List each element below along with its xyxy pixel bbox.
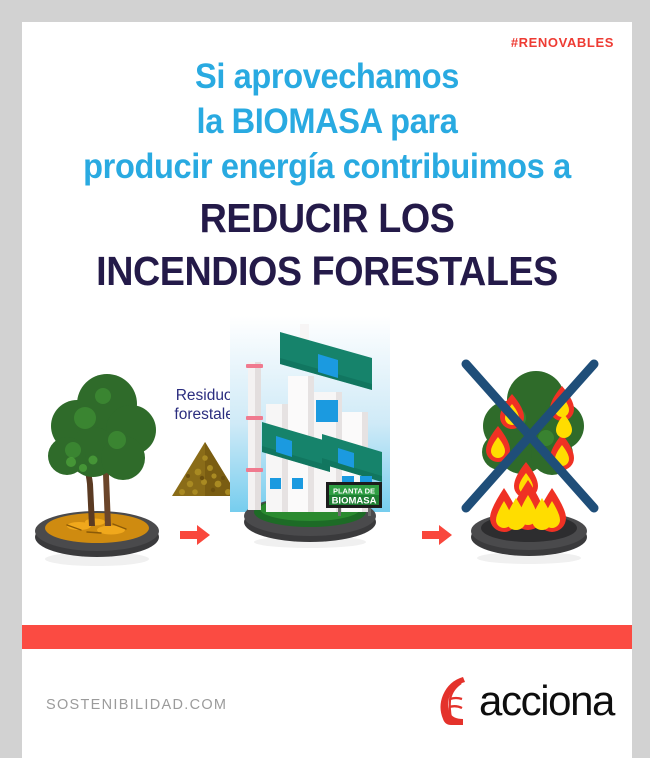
- headline-block: Si aprovechamos la BIOMASA para producir…: [22, 54, 632, 295]
- plant-sign-line-2: BIOMASA: [332, 496, 377, 507]
- headline-blue-line-2: la BIOMASA para: [43, 99, 610, 144]
- red-divider-bar: [22, 625, 632, 649]
- scene-biomass-plant: PLANTA DE BIOMASA: [222, 316, 397, 546]
- headline-dark-line-2: INCENDIOS FORESTALES: [46, 248, 607, 295]
- headline-blue-line-1: Si aprovechamos: [43, 54, 610, 99]
- acciona-logo[interactable]: acciona: [437, 675, 614, 727]
- scene-burning-tree: [452, 334, 607, 564]
- campaign-hashtag: #RENOVABLES: [511, 35, 614, 50]
- infographic-canvas: #RENOVABLES Si aprovechamos la BIOMASA p…: [0, 0, 650, 758]
- headline-dark-line-1: REDUCIR LOS: [46, 195, 607, 242]
- arrow-right-icon-1: [180, 524, 210, 546]
- arrow-right-icon-2: [422, 524, 452, 546]
- illustration-stage: Residuos forestales: [22, 316, 632, 622]
- scene-forest-tree: [27, 334, 167, 564]
- acciona-leaf-icon: [437, 675, 477, 727]
- headline-blue-line-3: producir energía contribuimos a: [43, 144, 610, 189]
- plant-sign-line-1: PLANTA DE: [333, 487, 375, 496]
- infographic-card: #RENOVABLES Si aprovechamos la BIOMASA p…: [22, 22, 632, 758]
- site-url[interactable]: SOSTENIBILIDAD.COM: [46, 697, 227, 713]
- acciona-wordmark: acciona: [479, 680, 614, 722]
- flame-group-base: [490, 480, 566, 532]
- footer: SOSTENIBILIDAD.COM acciona: [22, 649, 632, 758]
